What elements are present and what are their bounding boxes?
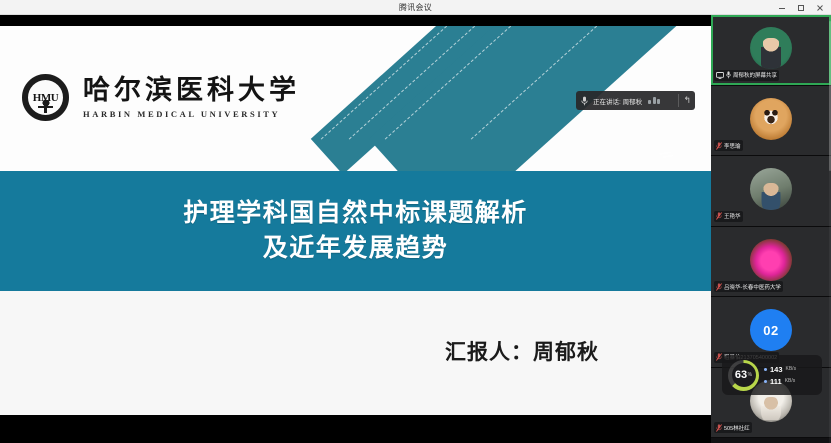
hmu-monogram: HMU	[33, 92, 58, 104]
hmu-crest-icon: HMU	[22, 74, 69, 121]
avatar-initials: 02	[763, 323, 778, 338]
upload-rate: 111 KB/s	[764, 377, 796, 386]
microphone-icon	[726, 71, 731, 79]
participant-name: 吕晓华-长春中医药大学	[724, 283, 781, 291]
participant-namebar: 505林社红	[714, 422, 752, 433]
performance-overlay[interactable]: 63 % 143 KB/s 111 KB/s	[722, 355, 822, 395]
participant-namebar: 周郁秋的屏幕共享	[714, 70, 779, 81]
shared-screen-stage[interactable]: ⁄⁄ HMU 哈尔滨医科大学 HARBIN MEDICAL UNIVERSITY…	[0, 15, 711, 426]
audio-wave-icon	[648, 97, 660, 104]
window-title: 腾讯会议	[399, 2, 432, 13]
network-rates: 143 KB/s 111 KB/s	[764, 365, 796, 386]
avatar	[750, 98, 792, 140]
cpu-value: 63	[735, 369, 747, 381]
avatar	[750, 239, 792, 281]
upload-dot-icon	[764, 380, 767, 383]
tencent-meeting-window: 腾讯会议 ⁄⁄	[0, 0, 831, 443]
ribbon-ticks: ⁄⁄	[659, 147, 676, 163]
minimize-button[interactable]	[772, 0, 791, 15]
participant-tile[interactable]: 李思瑜	[711, 86, 831, 157]
microphone-muted-icon	[716, 424, 722, 432]
download-value: 143	[770, 365, 783, 374]
participant-name: 李思瑜	[724, 142, 741, 150]
presentation-slide: ⁄⁄ HMU 哈尔滨医科大学 HARBIN MEDICAL UNIVERSITY…	[0, 26, 711, 415]
cpu-gauge: 63 %	[728, 360, 759, 391]
window-titlebar: 腾讯会议	[0, 0, 831, 15]
participant-tile[interactable]: 周郁秋的屏幕共享	[711, 15, 831, 86]
microphone-muted-icon	[716, 142, 722, 150]
university-name-en: HARBIN MEDICAL UNIVERSITY	[83, 109, 300, 119]
download-dot-icon	[764, 368, 767, 371]
active-speaker-label: 正在讲话: 周郁秋	[593, 96, 642, 106]
microphone-muted-icon	[716, 283, 722, 291]
participant-name: 505林社红	[724, 424, 750, 432]
participant-namebar: 吕晓华-长春中医药大学	[714, 281, 783, 292]
upload-unit: KB/s	[785, 378, 796, 384]
avatar: 02	[750, 309, 792, 351]
participant-name: 周郁秋的屏幕共享	[733, 71, 777, 79]
university-logo: HMU 哈尔滨医科大学 HARBIN MEDICAL UNIVERSITY	[22, 74, 300, 121]
presenter-line: 汇报人：周郁秋	[445, 336, 599, 366]
avatar	[750, 168, 792, 210]
slide-title-line-1: 护理学科国自然中标课题解析	[183, 196, 528, 232]
participant-namebar: 李思瑜	[714, 140, 743, 151]
participant-name: 王艳华	[724, 212, 741, 220]
upload-value: 111	[770, 377, 782, 386]
participant-tile[interactable]: 王艳华	[711, 156, 831, 227]
screen-share-icon	[716, 72, 724, 79]
microphone-muted-icon	[716, 212, 722, 220]
close-button[interactable]	[810, 0, 829, 15]
maximize-button[interactable]	[791, 0, 810, 15]
active-speaker-pill[interactable]: 正在讲话: 周郁秋 ↰	[576, 91, 695, 110]
download-rate: 143 KB/s	[764, 365, 796, 374]
slide-body: 汇报人：周郁秋	[0, 291, 711, 415]
participant-namebar: 王艳华	[714, 211, 743, 222]
slide-title-band: 护理学科国自然中标课题解析 及近年发展趋势	[0, 171, 711, 291]
window-controls	[772, 0, 829, 15]
university-name-cn: 哈尔滨医科大学	[83, 76, 300, 104]
collapse-arrow-icon[interactable]: ↰	[678, 94, 691, 107]
cpu-unit: %	[748, 372, 752, 378]
avatar	[750, 27, 792, 69]
slide-title-line-2: 及近年发展趋势	[263, 231, 449, 267]
participant-tile[interactable]: 吕晓华-长春中医药大学	[711, 227, 831, 298]
download-unit: KB/s	[786, 366, 797, 372]
microphone-icon	[580, 95, 589, 107]
